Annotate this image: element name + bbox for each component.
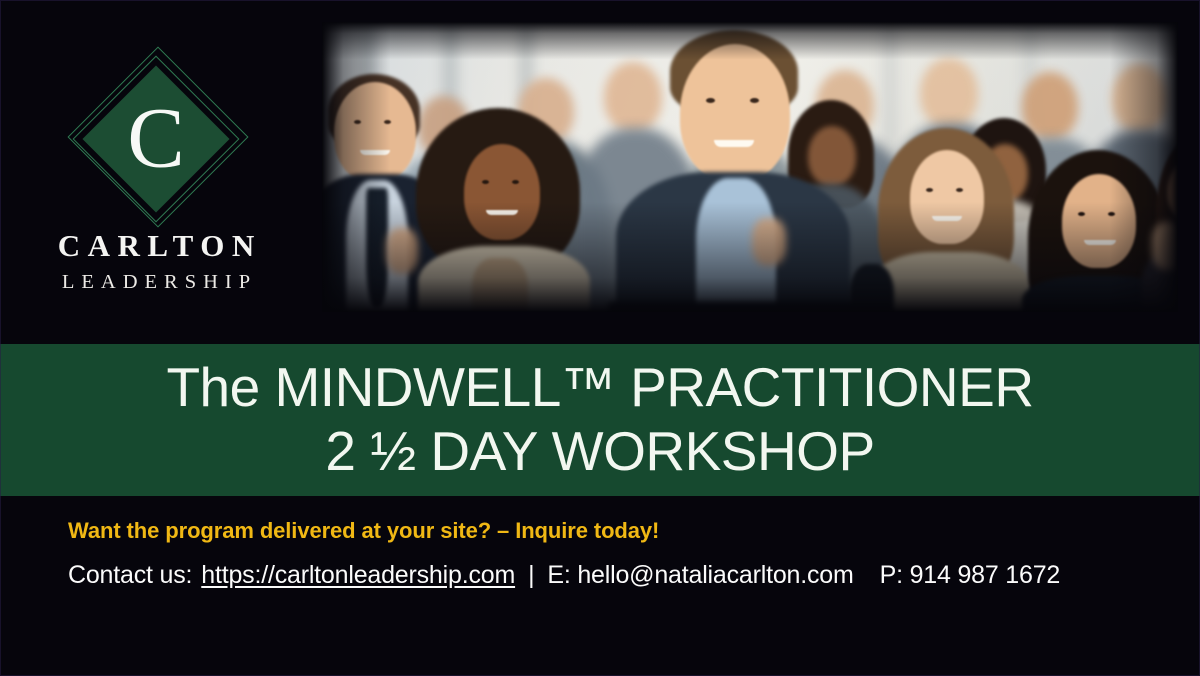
diamond-logo-icon: C xyxy=(61,44,251,234)
phone-number[interactable]: P: 914 987 1672 xyxy=(880,561,1061,590)
brand-logo[interactable]: C CARLTON LEADERSHIP xyxy=(0,0,312,344)
contact-footer: Want the program delivered at your site?… xyxy=(0,496,1200,676)
workshop-title-banner: The MINDWELL™ PRACTITIONER 2 ½ DAY WORKS… xyxy=(0,344,1200,496)
email-address[interactable]: E: hello@nataliacarlton.com xyxy=(547,561,853,590)
contact-label: Contact us: xyxy=(68,561,192,590)
brand-subtitle: LEADERSHIP xyxy=(55,271,257,294)
logo-letter: C xyxy=(127,94,184,180)
workshop-title-line-2: 2 ½ DAY WORKSHOP xyxy=(325,420,874,484)
hero-photo xyxy=(322,22,1178,312)
contact-separator: | xyxy=(528,561,534,590)
header-block: C CARLTON LEADERSHIP xyxy=(0,0,1200,344)
brand-name: CARLTON xyxy=(50,230,262,263)
website-link[interactable]: https://carltonleadership.com xyxy=(201,561,515,590)
hero-photo-vignette xyxy=(322,22,1178,312)
inquiry-tagline: Want the program delivered at your site?… xyxy=(68,518,1160,544)
workshop-title-line-1: The MINDWELL™ PRACTITIONER xyxy=(166,356,1033,419)
contact-details-row: Contact us: https://carltonleadership.co… xyxy=(68,561,1160,590)
promotional-poster: C CARLTON LEADERSHIP xyxy=(0,0,1200,676)
